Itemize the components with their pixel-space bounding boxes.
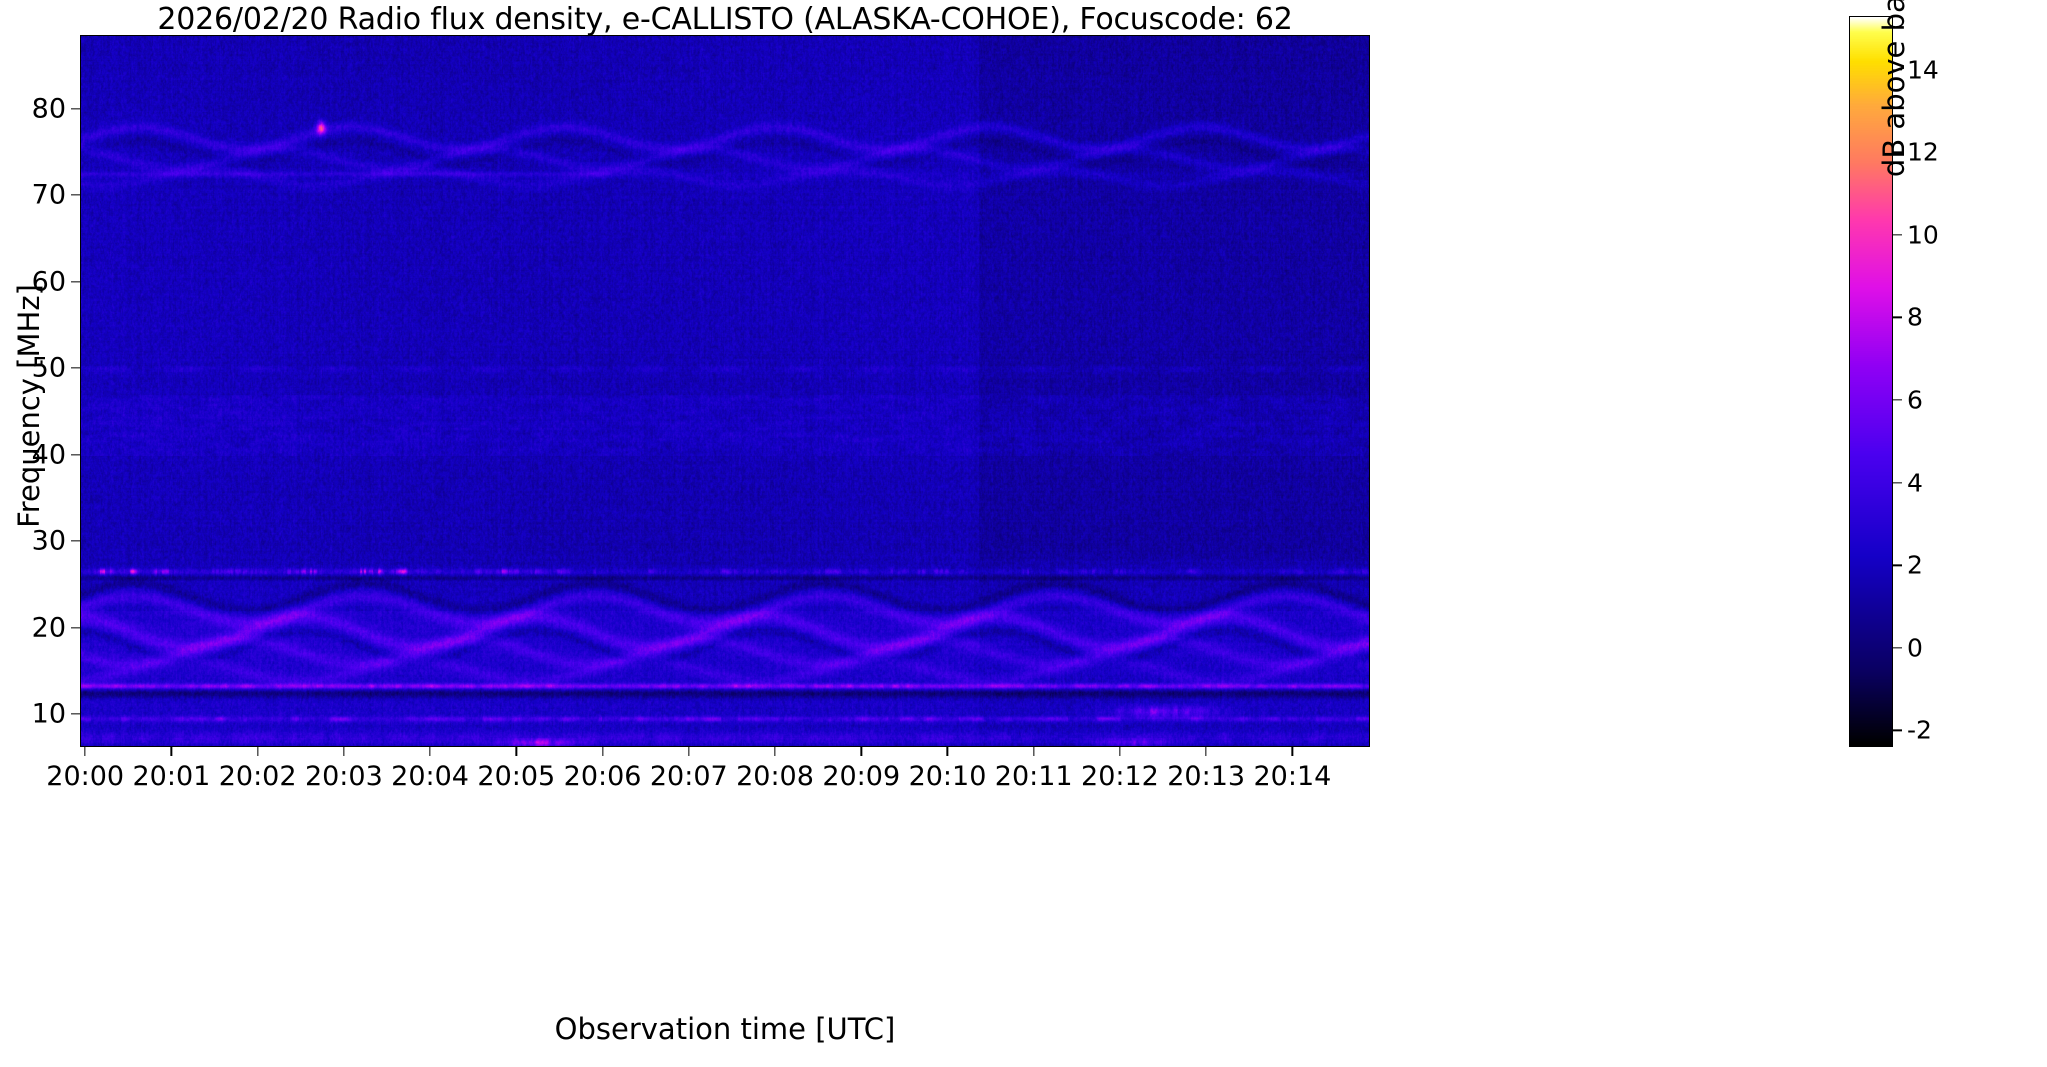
y-tick-mark bbox=[71, 281, 80, 282]
colorbar-tick-label: 0 bbox=[1907, 633, 1923, 662]
x-tick-label: 20:14 bbox=[1253, 761, 1331, 792]
figure-title: 2026/02/20 Radio flux density, e-CALLIST… bbox=[80, 2, 1370, 36]
colorbar-tick-label: 14 bbox=[1907, 55, 1939, 84]
x-tick-label: 20:05 bbox=[477, 761, 555, 792]
x-tick-mark bbox=[688, 747, 689, 756]
y-axis: Frequency [MHz] 8070605040302010 bbox=[0, 35, 80, 747]
x-tick-mark bbox=[1206, 747, 1207, 756]
x-tick-mark bbox=[257, 747, 258, 756]
colorbar-tick-label: 10 bbox=[1907, 220, 1939, 249]
y-tick-mark bbox=[71, 367, 80, 368]
y-tick-label: 10 bbox=[32, 699, 66, 730]
x-tick-mark bbox=[343, 747, 344, 756]
x-tick-label: 20:03 bbox=[305, 761, 383, 792]
y-tick-mark bbox=[71, 627, 80, 628]
colorbar-tick-mark bbox=[1893, 399, 1902, 400]
colorbar-tick-label: 2 bbox=[1907, 551, 1923, 580]
y-tick-label: 30 bbox=[32, 526, 66, 557]
colorbar-tick-label: 6 bbox=[1907, 386, 1923, 415]
x-tick-mark bbox=[85, 747, 86, 756]
colorbar-tick-mark bbox=[1893, 565, 1902, 566]
colorbar-tick-mark bbox=[1893, 730, 1902, 731]
colorbar: -202468101214 dB above background bbox=[1849, 16, 2047, 751]
x-tick-label: 20:08 bbox=[736, 761, 814, 792]
y-tick-label: 70 bbox=[32, 180, 66, 211]
y-axis-title: Frequency [MHz] bbox=[12, 50, 46, 762]
x-tick-mark bbox=[516, 747, 517, 756]
colorbar-tick-label: 4 bbox=[1907, 468, 1923, 497]
x-tick-label: 20:06 bbox=[564, 761, 642, 792]
x-tick-label: 20:11 bbox=[995, 761, 1073, 792]
x-axis-title: Observation time [UTC] bbox=[80, 1012, 1370, 1046]
y-tick-label: 50 bbox=[32, 353, 66, 384]
x-tick-mark bbox=[1033, 747, 1034, 756]
colorbar-tick-mark bbox=[1893, 482, 1902, 483]
x-tick-mark bbox=[774, 747, 775, 756]
x-tick-label: 20:09 bbox=[822, 761, 900, 792]
y-tick-mark bbox=[71, 454, 80, 455]
colorbar-tick-mark bbox=[1893, 647, 1902, 648]
x-tick-mark bbox=[602, 747, 603, 756]
x-tick-mark bbox=[861, 747, 862, 756]
y-tick-label: 40 bbox=[32, 439, 66, 470]
y-tick-mark bbox=[71, 713, 80, 714]
x-tick-mark bbox=[429, 747, 430, 756]
x-tick-label: 20:04 bbox=[391, 761, 469, 792]
x-tick-mark bbox=[171, 747, 172, 756]
x-tick-label: 20:10 bbox=[909, 761, 987, 792]
y-tick-mark bbox=[71, 108, 80, 109]
y-tick-label: 20 bbox=[32, 612, 66, 643]
x-tick-label: 20:12 bbox=[1081, 761, 1159, 792]
colorbar-tick-label: -2 bbox=[1907, 716, 1932, 745]
x-tick-label: 20:00 bbox=[46, 761, 124, 792]
spectrogram-figure: 2026/02/20 Radio flux density, e-CALLIST… bbox=[0, 0, 2047, 1067]
colorbar-ticks: -202468101214 bbox=[1893, 16, 2043, 747]
x-tick-mark bbox=[1292, 747, 1293, 756]
x-tick-label: 20:07 bbox=[650, 761, 728, 792]
colorbar-tick-label: 12 bbox=[1907, 138, 1939, 167]
colorbar-title: dB above background bbox=[1877, 0, 1911, 384]
x-tick-mark bbox=[947, 747, 948, 756]
x-tick-label: 20:02 bbox=[219, 761, 297, 792]
x-tick-label: 20:01 bbox=[132, 761, 210, 792]
x-axis: 20:0020:0120:0220:0320:0420:0520:0620:07… bbox=[80, 747, 1370, 797]
x-tick-mark bbox=[1119, 747, 1120, 756]
y-tick-label: 60 bbox=[32, 266, 66, 297]
y-tick-mark bbox=[71, 540, 80, 541]
spectrogram-plot-area bbox=[80, 35, 1370, 747]
y-tick-label: 80 bbox=[32, 93, 66, 124]
x-tick-label: 20:13 bbox=[1167, 761, 1245, 792]
y-tick-mark bbox=[71, 194, 80, 195]
dynamic-spectrum-canvas bbox=[81, 36, 1370, 747]
